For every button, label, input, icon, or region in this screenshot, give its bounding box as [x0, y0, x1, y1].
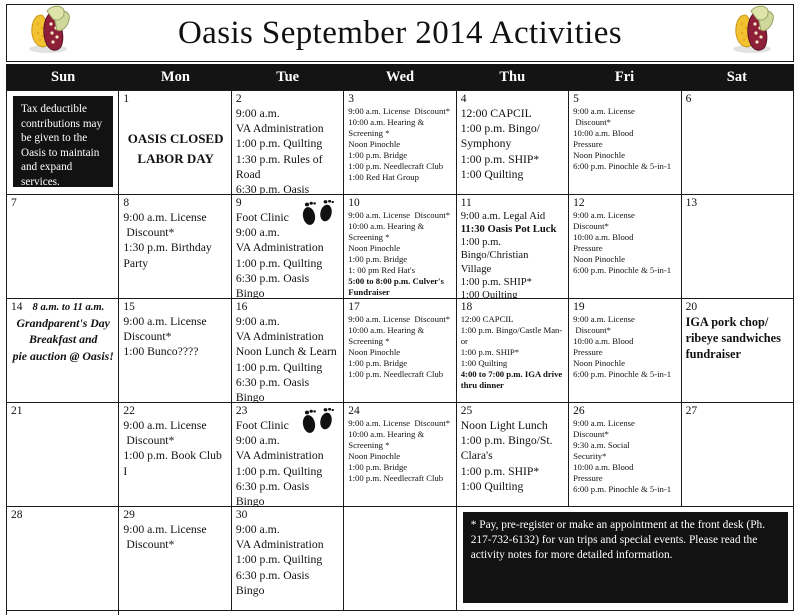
event-item: 6:30 p.m. Oasis Bingo: [236, 271, 340, 299]
event-item: Discount*: [573, 221, 677, 232]
event-item: 1:00 p.m. Needlecraft Club: [348, 473, 452, 484]
calendar-cell-empty[interactable]: [344, 507, 456, 611]
event-list: 9:00 a.m. License Discount*10:00 a.m. Bl…: [573, 314, 677, 380]
event-line: Breakfast and: [11, 331, 115, 347]
event-item: Village: [461, 263, 565, 276]
footprints-icon: [297, 199, 337, 229]
calendar-cell-day-23[interactable]: 23 Foot Clinic9:00 a.m.VA Administration…: [232, 403, 344, 507]
day-number: 26: [573, 405, 677, 417]
event-item: 9:30 a.m. Social: [573, 440, 677, 451]
weekday-label-sat: Sat: [681, 65, 793, 89]
event-item: Discount*: [123, 225, 227, 240]
event-list: 9:00 a.m. License Discount*10:00 a.m. He…: [348, 210, 452, 299]
event-line: fundraiser: [686, 346, 790, 362]
event-line: ribeye sandwiches: [686, 330, 790, 346]
event-item: 12:00 CAPCIL: [461, 106, 565, 121]
footprints-icon: [297, 407, 337, 437]
event-item: Clara's: [461, 448, 565, 463]
day-number: 10: [348, 197, 452, 209]
event-item: Noon Pinochle: [573, 254, 677, 265]
day-number: 19: [573, 301, 677, 313]
event-text: IGA pork chop/ribeye sandwichesfundraise…: [686, 314, 790, 363]
event-item: 10:00 a.m. Blood: [573, 128, 677, 139]
weekday-label-fri: Fri: [568, 65, 680, 89]
event-item: Discount*: [123, 433, 227, 448]
event-item: 9:00 a.m. License Discount*: [348, 210, 452, 221]
event-item: 1:00 p.m. Quilting: [236, 256, 340, 271]
event-list: 9:00 a.m.VA AdministrationNoon Lunch & L…: [236, 314, 340, 403]
calendar-cell-day-8[interactable]: 89:00 a.m. License Discount*1:30 p.m. Bi…: [119, 195, 231, 299]
event-item: 10:00 a.m. Hearing & Screening *: [348, 221, 452, 243]
event-list: Noon Light Lunch1:00 p.m. Bingo/St.Clara…: [461, 418, 565, 494]
day-number: 3: [348, 93, 452, 105]
calendar-cell-day-20[interactable]: 20IGA pork chop/ribeye sandwichesfundrai…: [682, 299, 794, 403]
event-item: 10:00 a.m. Blood: [573, 462, 677, 473]
event-item: 6:30 p.m. Oasis Bingo: [236, 568, 340, 598]
event-item: Security*: [573, 451, 677, 462]
event-item: Noon Light Lunch: [461, 418, 565, 433]
event-item: Screening *: [348, 128, 452, 139]
event-item: 1:00 p.m. Bridge: [348, 254, 452, 265]
event-line: pie auction @ Oasis!: [11, 348, 115, 364]
event-list: 9:00 a.m. LicenseDiscount*1:00 Bunco????: [123, 314, 227, 360]
event-item: Pressure: [573, 243, 677, 254]
event-item: 1:00 p.m. SHIP*: [461, 152, 565, 167]
event-item: 1:00 p.m. Quilting: [236, 360, 340, 375]
event-item: 6:00 p.m. Pinochle & 5-in-1: [573, 161, 677, 172]
day-number: 5: [573, 93, 677, 105]
event-line: IGA pork chop/: [686, 314, 790, 330]
event-item: Noon Pinochle: [348, 451, 452, 462]
event-item: 10:00 a.m. Hearing &: [348, 325, 452, 336]
event-list: 9:00 a.m. LicenseDiscount*9:30 a.m. Soci…: [573, 418, 677, 495]
day-number: 14: [11, 301, 23, 313]
calendar-cell-day-28[interactable]: 28: [7, 507, 119, 611]
day-number: 16: [236, 301, 340, 313]
event-item: 11:30 Oasis Pot Luck: [461, 223, 565, 236]
weekday-label-mon: Mon: [119, 65, 231, 89]
event-item: Discount*: [573, 429, 677, 440]
event-list: 9:00 a.m. License Discount*1:00 p.m. Boo…: [123, 418, 227, 479]
event-text: Grandparent's DayBreakfast andpie auctio…: [11, 315, 115, 364]
day-number: 25: [461, 405, 565, 417]
event-item: 1:00 p.m. Needlecraft Club: [348, 369, 452, 380]
event-item: 9:00 a.m. License: [573, 106, 677, 117]
event-list: 9:00 a.m. License Discount*10:00 a.m. He…: [348, 106, 452, 183]
event-item: 1:00 p.m. Quilting: [236, 136, 340, 151]
day-number: 4: [461, 93, 565, 105]
day-number: 6: [686, 93, 790, 105]
event-item: Noon Pinochle: [573, 358, 677, 369]
calendar-cell-day-24[interactable]: 249:00 a.m. License Discount*10:00 a.m. …: [344, 403, 456, 507]
event-item: 9:00 a.m. License Discount*: [348, 418, 452, 429]
event-item: thru dinner: [461, 380, 565, 391]
day-number: 21: [11, 405, 115, 417]
weekday-label-thu: Thu: [456, 65, 568, 89]
event-item: 9:00 a.m. License: [123, 314, 227, 329]
event-item: Pressure: [573, 473, 677, 484]
day-number: 30: [236, 509, 340, 521]
event-list: 12:00 CAPCIL1:00 p.m. Bingo/Castle Man-o…: [461, 314, 565, 391]
event-item: Noon Lunch & Learn: [236, 344, 340, 359]
calendar-cell-day-16[interactable]: 169:00 a.m.VA AdministrationNoon Lunch &…: [232, 299, 344, 403]
weekday-label-tue: Tue: [232, 65, 344, 89]
calendar-cell-day-15[interactable]: 159:00 a.m. LicenseDiscount*1:00 Bunco??…: [119, 299, 231, 403]
event-item: 1:00 p.m. SHIP*: [461, 347, 565, 358]
event-item: Screening *: [348, 336, 452, 347]
day-number: 1: [123, 93, 227, 105]
day-number: 7: [11, 197, 115, 209]
calendar-cell-day-11[interactable]: 119:00 a.m. Legal Aid11:30 Oasis Pot Luc…: [457, 195, 569, 299]
event-item: VA Administration: [236, 329, 340, 344]
day-number: 28: [11, 509, 115, 521]
event-item: 1:00 p.m. Quilting: [236, 464, 340, 479]
event-item: 1:00 Quilting: [461, 358, 565, 369]
event-item: 1:00 p.m. SHIP*: [461, 276, 565, 289]
event-item: Screening *: [348, 440, 452, 451]
event-item: 1:00 Red Hat Group: [348, 172, 452, 183]
event-list: 9:00 a.m. License Discount*: [123, 522, 227, 552]
calendar-cell-day-30[interactable]: 309:00 a.m.VA Administration1:00 p.m. Qu…: [232, 507, 344, 611]
calendar-cell-day-4[interactable]: 412:00 CAPCIL1:00 p.m. Bingo/Symphony1:0…: [457, 91, 569, 195]
calendar-cell-footer-note[interactable]: * Pay, pre-register or make an appointme…: [457, 507, 794, 611]
closed-notice-line: OASIS CLOSED: [128, 129, 224, 149]
event-list: 9:00 a.m. License Discount*10:00 a.m. Bl…: [573, 106, 677, 172]
calendar-cell-day-29[interactable]: 299:00 a.m. License Discount*: [119, 507, 231, 611]
event-item: VA Administration: [236, 448, 340, 463]
calendar-cell-day-1[interactable]: 1OASIS CLOSEDLABOR DAY: [119, 91, 231, 195]
day-number: 11: [461, 197, 565, 209]
calendar-cell-day-25[interactable]: 25Noon Light Lunch1:00 p.m. Bingo/St.Cla…: [457, 403, 569, 507]
event-item: 1:00 p.m. Book Club I: [123, 448, 227, 478]
day-number: 12: [573, 197, 677, 209]
event-item: 1:00 Quilting: [461, 479, 565, 494]
event-list: 9:00 a.m. LicenseDiscount*10:00 a.m. Blo…: [573, 210, 677, 276]
calendar-cell-day-14[interactable]: 148 a.m. to 11 a.m.Grandparent's DayBrea…: [7, 299, 119, 403]
day-number: 29: [123, 509, 227, 521]
event-item: Discount*: [123, 329, 227, 344]
calendar-cell-day-22[interactable]: 229:00 a.m. License Discount*1:00 p.m. B…: [119, 403, 231, 507]
day-number: 18: [461, 301, 565, 313]
event-item: 6:00 p.m. Pinochle & 5-in-1: [573, 484, 677, 495]
calendar-cell-day-17[interactable]: 179:00 a.m. License Discount*10:00 a.m. …: [344, 299, 456, 403]
page-title: Oasis September 2014 Activities: [178, 15, 622, 52]
event-item: 4:00 to 7:00 p.m. IGA drive: [461, 369, 565, 380]
event-item: Pressure: [573, 139, 677, 150]
event-item: 1:00 Quilting: [461, 167, 565, 182]
calendar-grid: Tax deductible contributions may be give…: [6, 90, 794, 615]
event-item: 6:00 p.m. Pinochle & 5-in-1: [573, 369, 677, 380]
day-number: 22: [123, 405, 227, 417]
event-list: 9:00 a.m. License Discount*1:30 p.m. Bir…: [123, 210, 227, 271]
calendar-cell-day-19[interactable]: 199:00 a.m. License Discount*10:00 a.m. …: [569, 299, 681, 403]
event-item: 1:00 Bunco????: [123, 344, 227, 359]
calendar-cell-day-3[interactable]: 39:00 a.m. License Discount*10:00 a.m. H…: [344, 91, 456, 195]
event-item: 1:00 p.m. Bridge: [348, 358, 452, 369]
event-list: 9:00 a.m.VA Administration1:00 p.m. Quil…: [236, 106, 340, 195]
calendar-cell-day-10[interactable]: 109:00 a.m. License Discount*10:00 a.m. …: [344, 195, 456, 299]
event-item: 9:00 a.m. Legal Aid: [461, 210, 565, 223]
weekday-label-sun: Sun: [7, 65, 119, 89]
event-item: 9:00 a.m. License Discount*: [348, 106, 452, 117]
event-item: Discount*: [123, 537, 227, 552]
event-item: 12:00 CAPCIL: [461, 314, 565, 325]
event-item: 9:00 a.m. License: [123, 522, 227, 537]
calendar-cell-day-2[interactable]: 29:00 a.m.VA Administration1:00 p.m. Qui…: [232, 91, 344, 195]
event-list: 9:00 a.m. Legal Aid11:30 Oasis Pot Luck1…: [461, 210, 565, 299]
calendar-cell-scarecrow[interactable]: [7, 611, 119, 615]
day-number: 20: [686, 301, 790, 313]
day-number: 2: [236, 93, 340, 105]
event-item: 1:00 p.m. Bridge: [348, 462, 452, 473]
day-number: 27: [686, 405, 790, 417]
event-item: 9:00 a.m. License: [123, 210, 227, 225]
event-item: 1:30 p.m. Rules of Road: [236, 152, 340, 182]
event-item: Fundraiser: [348, 287, 452, 298]
event-item: 1:00 p.m. Bingo/: [461, 121, 565, 136]
event-item: Noon Pinochle: [348, 347, 452, 358]
event-item: VA Administration: [236, 537, 340, 552]
calendar-cell-day-7[interactable]: 7: [7, 195, 119, 299]
event-item: 9:00 a.m. License: [573, 418, 677, 429]
footer-note: * Pay, pre-register or make an appointme…: [463, 512, 788, 603]
event-item: Party: [123, 256, 227, 271]
weekday-header: SunMonTueWedThuFriSat: [6, 64, 794, 90]
calendar-cell-day-6[interactable]: 6: [682, 91, 794, 195]
calendar-cell-day-13[interactable]: 13: [682, 195, 794, 299]
event-item: Pressure: [573, 347, 677, 358]
event-item: 9:00 a.m.: [236, 314, 340, 329]
event-item: Symphony: [461, 136, 565, 151]
event-item: 6:30 p.m. Oasis Bingo: [236, 182, 340, 195]
calendar-cell-day-5[interactable]: 59:00 a.m. License Discount*10:00 a.m. B…: [569, 91, 681, 195]
event-item: 6:30 p.m. Oasis Bingo: [236, 375, 340, 403]
event-item: 5:00 to 8:00 p.m. Culver's: [348, 276, 452, 287]
event-list: 12:00 CAPCIL1:00 p.m. Bingo/Symphony1:00…: [461, 106, 565, 182]
calendar-cell-day-26[interactable]: 269:00 a.m. LicenseDiscount*9:30 a.m. So…: [569, 403, 681, 507]
event-item: Noon Pinochle: [348, 139, 452, 150]
event-item: 1:00 p.m. SHIP*: [461, 464, 565, 479]
closed-notice: OASIS CLOSEDLABOR DAY: [123, 106, 227, 191]
event-item: 9:00 a.m. License: [123, 418, 227, 433]
event-list: 9:00 a.m. License Discount*10:00 a.m. He…: [348, 418, 452, 484]
day-number: 13: [686, 197, 790, 209]
event-item: Noon Pinochle: [348, 243, 452, 254]
event-item: 10:00 a.m. Hearing &: [348, 429, 452, 440]
event-item: 1:00 p.m. Quilting: [236, 552, 340, 567]
calendar-title-bar: Oasis September 2014 Activities: [6, 4, 794, 62]
event-item: 9:00 a.m. License: [573, 210, 677, 221]
day-number: 15: [123, 301, 227, 313]
event-list: 9:00 a.m.VA Administration1:00 p.m. Quil…: [236, 522, 340, 598]
event-item: 9:00 a.m. License Discount*: [348, 314, 452, 325]
event-item: Noon Pinochle: [573, 150, 677, 161]
weekday-label-wed: Wed: [344, 65, 456, 89]
event-item: 1:00 p.m. Bingo/Christian: [461, 236, 565, 262]
event-item: Discount*: [573, 325, 677, 336]
event-item: 10:00 a.m. Hearing &: [348, 117, 452, 128]
day-number: 8: [123, 197, 227, 209]
calendar-cell-day-27[interactable]: 27: [682, 403, 794, 507]
event-item: 6:30 p.m. Oasis Bingo: [236, 479, 340, 507]
donation-note: Tax deductible contributions may be give…: [13, 96, 113, 187]
event-item: or: [461, 336, 565, 347]
event-headline: 8 a.m. to 11 a.m.: [33, 302, 105, 314]
event-line: Grandparent's Day: [11, 315, 115, 331]
event-item: 1:30 p.m. Birthday: [123, 240, 227, 255]
event-item: 9:00 a.m.: [236, 106, 340, 121]
event-item: 10:00 a.m. Blood: [573, 232, 677, 243]
event-item: 9:00 a.m. License: [573, 314, 677, 325]
calendar-cell-day-9[interactable]: 9 Foot Clinic9:00 a.m.VA Administration1…: [232, 195, 344, 299]
event-item: 1: 00 pm Red Hat's: [348, 265, 452, 276]
event-item: 1:00 p.m. Bridge: [348, 150, 452, 161]
corn-icon: [723, 2, 781, 60]
event-item: 6:00 p.m. Pinochle & 5-in-1: [573, 265, 677, 276]
event-item: 1:00 Quilting: [461, 289, 565, 299]
event-item: 1:00 p.m. Needlecraft Club: [348, 161, 452, 172]
calendar-cell-day-18[interactable]: 1812:00 CAPCIL1:00 p.m. Bingo/Castle Man…: [457, 299, 569, 403]
corn-icon: [19, 2, 77, 60]
calendar-cell-day-12[interactable]: 129:00 a.m. LicenseDiscount*10:00 a.m. B…: [569, 195, 681, 299]
event-item: VA Administration: [236, 240, 340, 255]
event-item: 1:00 p.m. Bingo/St.: [461, 433, 565, 448]
event-item: 9:00 a.m.: [236, 522, 340, 537]
event-item: Discount*: [573, 117, 677, 128]
event-item: VA Administration: [236, 121, 340, 136]
calendar-page: Oasis September 2014 Activities: [0, 0, 800, 615]
event-list: 9:00 a.m. License Discount*10:00 a.m. He…: [348, 314, 452, 380]
calendar-cell-day-21[interactable]: 21: [7, 403, 119, 507]
event-item: 1:00 p.m. Bingo/Castle Man-: [461, 325, 565, 336]
day-number: 24: [348, 405, 452, 417]
event-item: 10:00 a.m. Blood: [573, 336, 677, 347]
calendar-cell-note[interactable]: Tax deductible contributions may be give…: [7, 91, 119, 195]
closed-notice-line: LABOR DAY: [137, 149, 213, 169]
day-number: 17: [348, 301, 452, 313]
